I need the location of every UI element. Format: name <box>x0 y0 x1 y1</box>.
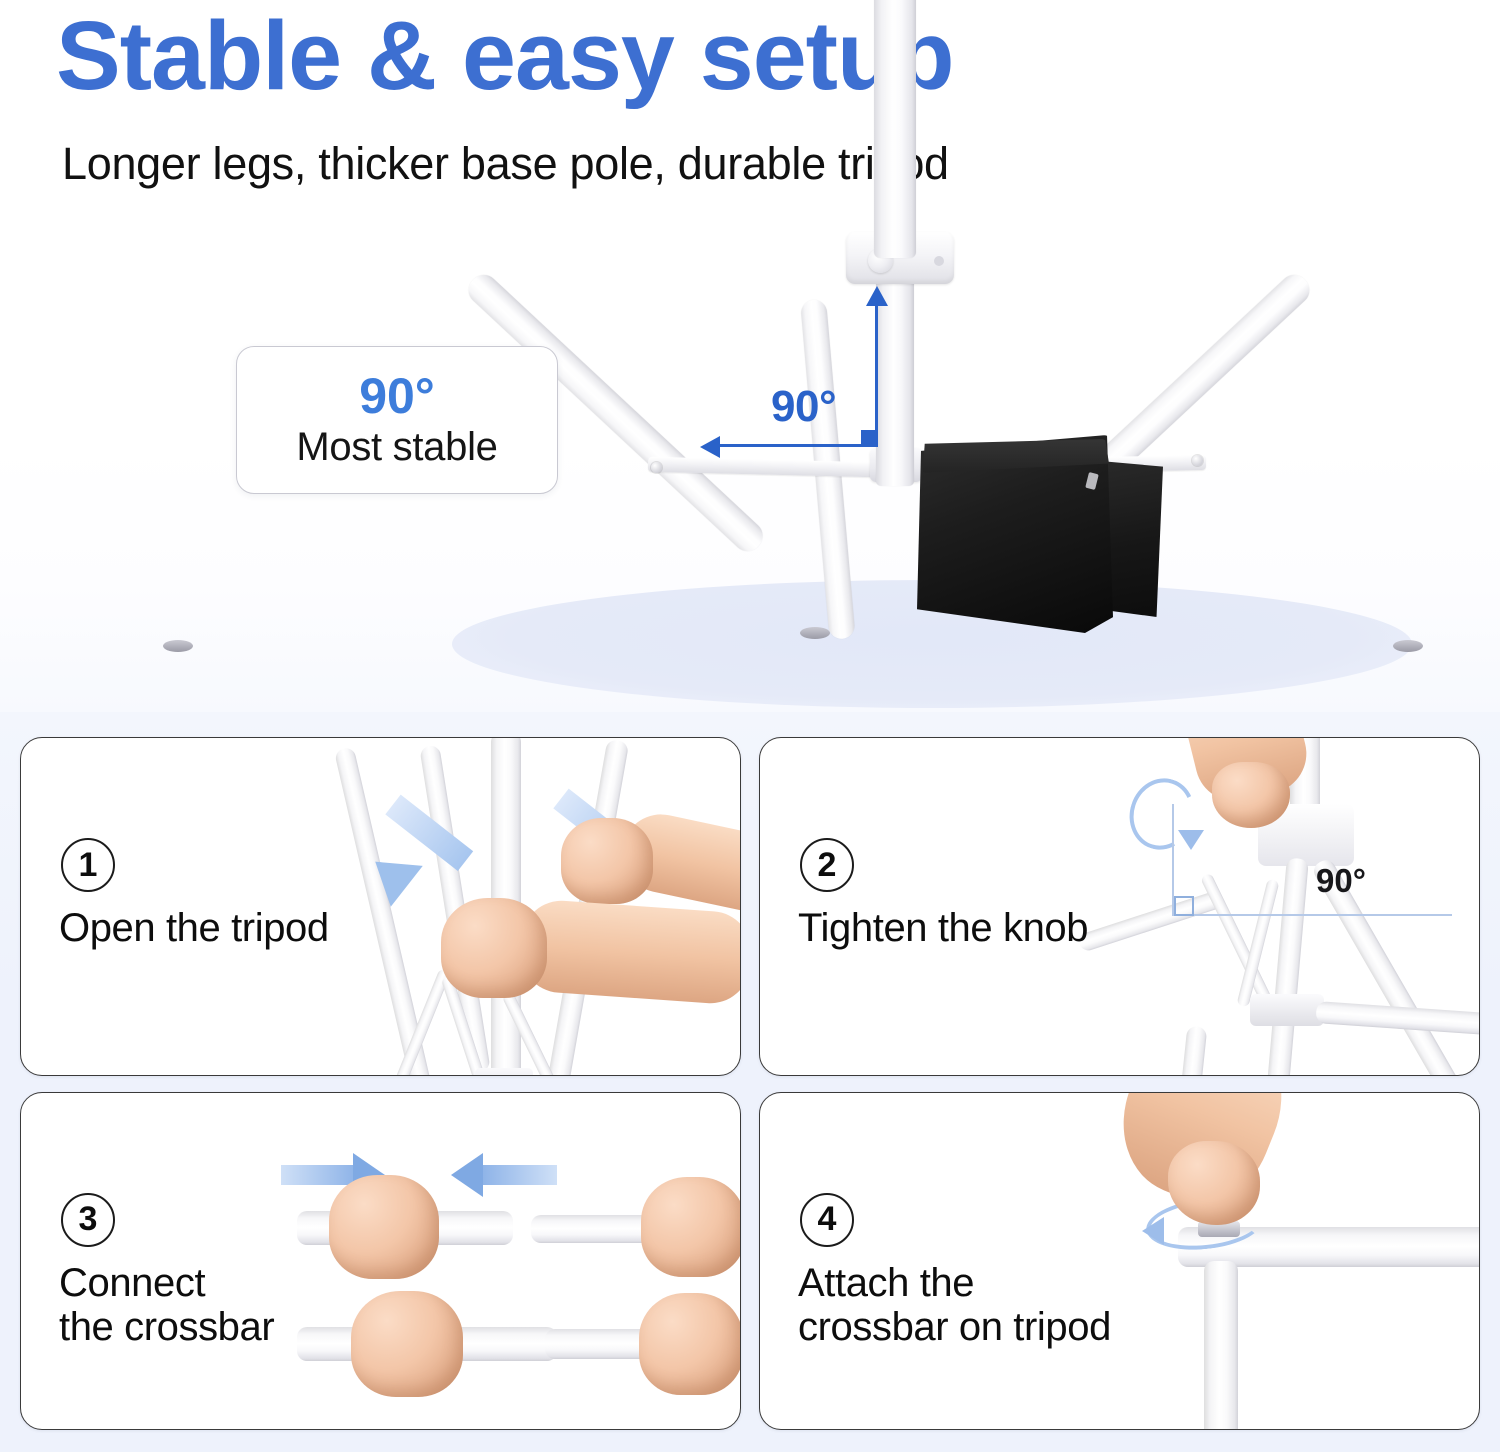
callout-degree: 90° <box>359 371 435 421</box>
open-arrow-right-head-icon <box>609 827 673 893</box>
step-label-3: Connect the crossbar <box>59 1261 274 1351</box>
angle-arrow-vertical-head-icon <box>866 286 888 306</box>
right-angle-marker-icon <box>861 430 878 447</box>
step-2-angle-label: 90° <box>1316 862 1366 900</box>
tripod-strut-a <box>1200 872 1272 1003</box>
tripod-center-pole <box>874 0 916 258</box>
tripod-hub-bolt <box>934 256 944 266</box>
leg-foot-left <box>163 640 193 652</box>
crossbar-right-top <box>531 1215 741 1243</box>
crossbar-left-top <box>297 1211 513 1245</box>
tripod-leg-left <box>419 744 490 1073</box>
step-card-2: 90° 2 Tighten the knob <box>759 737 1480 1076</box>
thumb-screw-head <box>1198 1221 1240 1237</box>
leg-foot-right <box>1393 640 1423 652</box>
sandbag <box>905 425 1175 640</box>
brace-pin-left <box>651 462 662 473</box>
step-label-2: Tighten the knob <box>798 906 1088 951</box>
rotate-arrow-head-icon <box>1178 830 1204 850</box>
brace-pin-right <box>1192 455 1203 466</box>
stability-callout-card: 90° Most stable <box>236 346 558 494</box>
crossbar-left-bottom <box>297 1327 557 1361</box>
step-number-1: 1 <box>61 838 115 892</box>
rotate-arc-icon <box>1144 1192 1267 1254</box>
step-number-3: 3 <box>61 1193 115 1247</box>
tripod-leg-right <box>547 739 629 1076</box>
tripod-center-pole <box>491 737 521 1076</box>
right-angle-marker-icon <box>1174 896 1194 916</box>
rotate-arrow-head-icon <box>1142 1217 1164 1245</box>
forearm-lower <box>518 898 741 1006</box>
angle-arrow-horizontal <box>718 444 876 447</box>
setup-steps-grid: 1 Open the tripod 90° 2 Tighten the knob <box>0 712 1500 1452</box>
hand-bottom-left <box>351 1291 463 1397</box>
forearm-upper <box>615 807 741 919</box>
tripod-upright-pole <box>1204 1261 1238 1431</box>
tripod-strut-c <box>501 991 560 1076</box>
step-card-4: 4 Attach the crossbar on tripod <box>759 1092 1480 1431</box>
step-label-1: Open the tripod <box>59 906 329 951</box>
crossbar <box>1178 1227 1480 1267</box>
hand-lower <box>441 898 547 998</box>
tripod-strut-b <box>1236 878 1279 1007</box>
tripod-strut-a <box>395 968 451 1075</box>
leg-foot-center <box>800 627 830 639</box>
hand-fingers-turning-screw <box>1168 1141 1260 1225</box>
tripod-leg-center <box>1265 858 1309 1076</box>
step-number-4: 4 <box>800 1193 854 1247</box>
hand-top-right <box>641 1177 741 1277</box>
open-arrow-left-head-icon <box>359 841 423 907</box>
tripod-leg-outer-left <box>334 746 432 1075</box>
angle-guide-horizontal <box>1172 914 1452 916</box>
angle-label: 90° <box>771 382 836 432</box>
tripod-strut-b <box>441 975 489 1075</box>
hand-upper <box>561 818 653 904</box>
push-arrow-left-head-icon <box>451 1153 483 1197</box>
rotate-arc-icon <box>1120 770 1203 858</box>
hand-bottom-right <box>639 1293 741 1395</box>
angle-guide-vertical <box>1172 804 1174 916</box>
crossbar-right-bottom <box>545 1329 741 1359</box>
step-number-2: 2 <box>800 838 854 892</box>
push-arrow-right-head-icon <box>353 1153 385 1197</box>
thumb-screw-shaft <box>1208 1189 1230 1233</box>
hand-pressing-knob <box>1212 762 1290 828</box>
push-arrow-left <box>483 1165 557 1185</box>
hand-top-left <box>329 1175 439 1279</box>
push-arrow-right <box>281 1165 355 1185</box>
tripod-leg-right <box>1310 857 1479 1076</box>
tripod-leg-lower <box>1169 1025 1208 1075</box>
angle-arrow-vertical <box>875 292 878 447</box>
tripod-foot-bracket <box>475 1068 533 1076</box>
tripod-illustration <box>0 0 1500 712</box>
tripod-center-pole <box>1290 737 1320 858</box>
step-card-1: 1 Open the tripod <box>20 737 741 1076</box>
tripod-leg-folded <box>1077 889 1225 952</box>
open-arrow-left <box>385 795 473 871</box>
tripod-hub <box>1258 804 1354 866</box>
hero-section: Stable & easy setup Longer legs, thicker… <box>0 0 1500 712</box>
tripod-lower-collar <box>1250 994 1324 1026</box>
open-arrow-right <box>553 789 641 865</box>
step-card-3: 3 Connect the crossbar <box>20 1092 741 1431</box>
callout-caption: Most stable <box>296 425 497 470</box>
angle-arrow-horizontal-head-icon <box>700 436 720 458</box>
tripod-brace-right <box>1315 1001 1480 1037</box>
step-label-4: Attach the crossbar on tripod <box>798 1261 1111 1351</box>
hand-back <box>1100 1092 1307 1221</box>
hand-fingers <box>1177 737 1315 810</box>
